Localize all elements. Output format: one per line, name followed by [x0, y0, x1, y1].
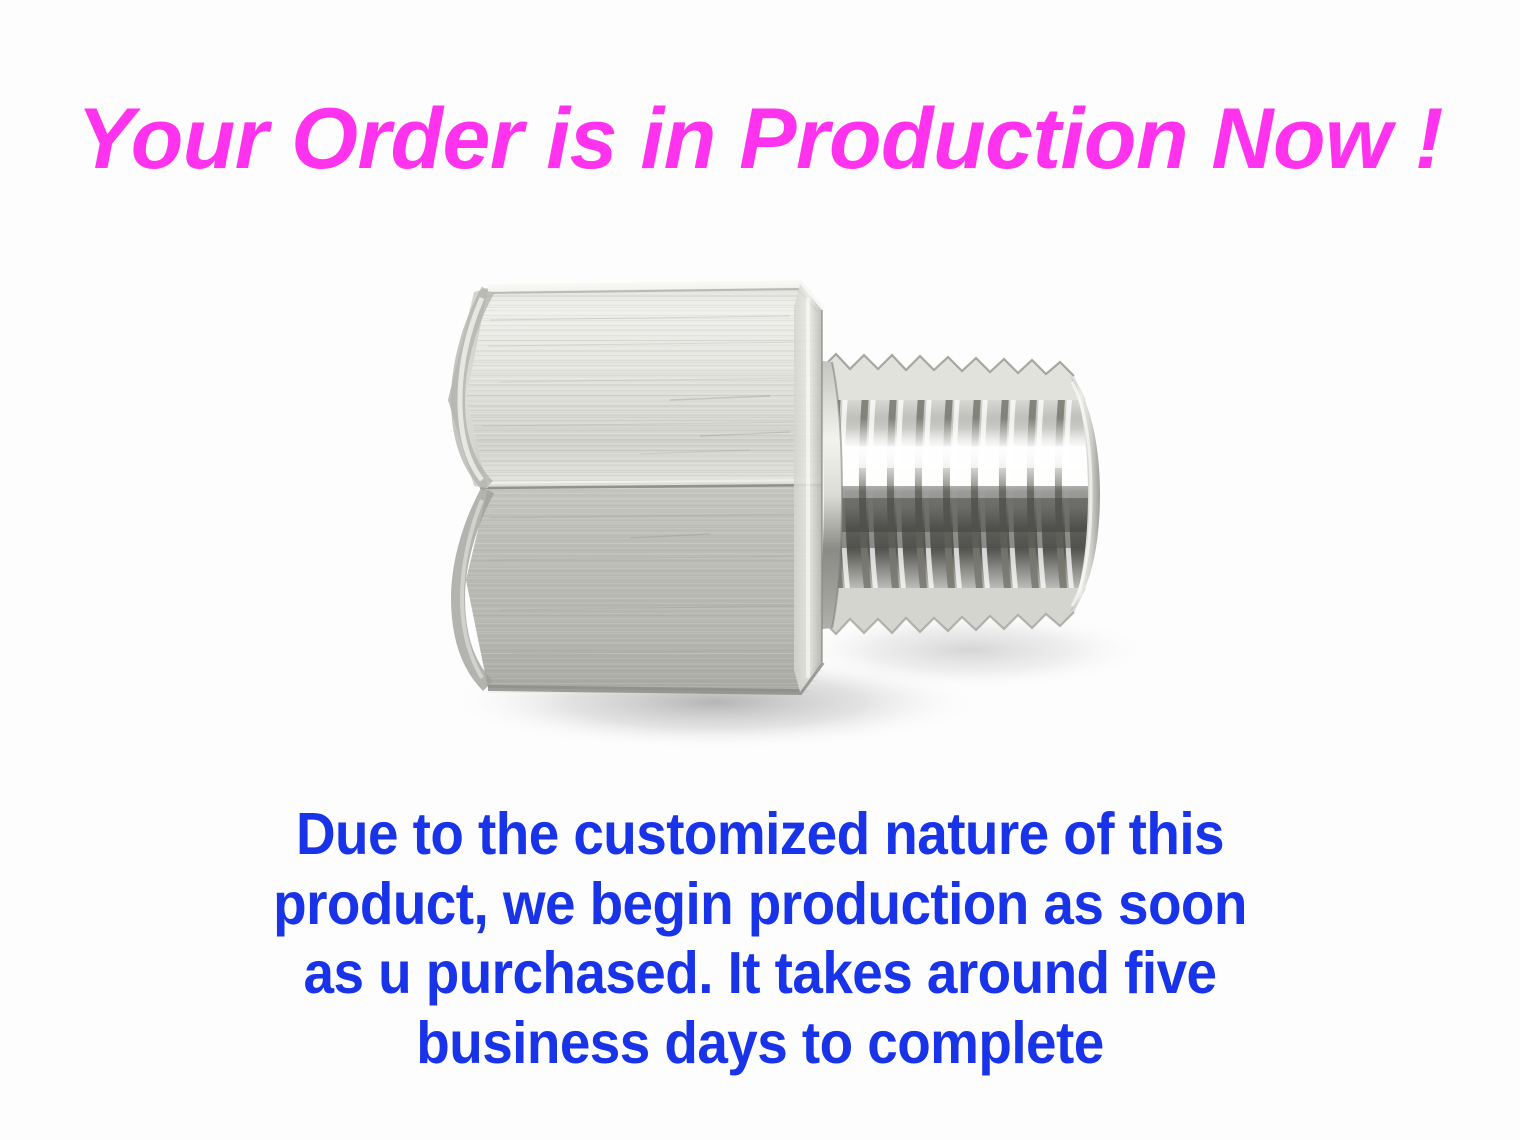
product-image	[370, 250, 1210, 780]
caption-line-2: product, we begin production as soon	[53, 870, 1467, 940]
caption-line-3: as u purchased. It takes around five	[53, 939, 1467, 1009]
page-title: Your Order is in Production Now !	[0, 96, 1520, 182]
caption-block: Due to the customized nature of this pro…	[0, 800, 1520, 1078]
threaded-shank	[810, 354, 1110, 634]
hex-adapter-fitting-illustration	[370, 250, 1210, 780]
thread-crest-top	[822, 354, 1086, 400]
caption-line-1: Due to the customized nature of this	[53, 800, 1467, 870]
caption-line-4: business days to complete	[53, 1009, 1467, 1079]
hex-body	[448, 270, 850, 710]
promo-banner: Your Order is in Production Now !	[0, 0, 1520, 1140]
